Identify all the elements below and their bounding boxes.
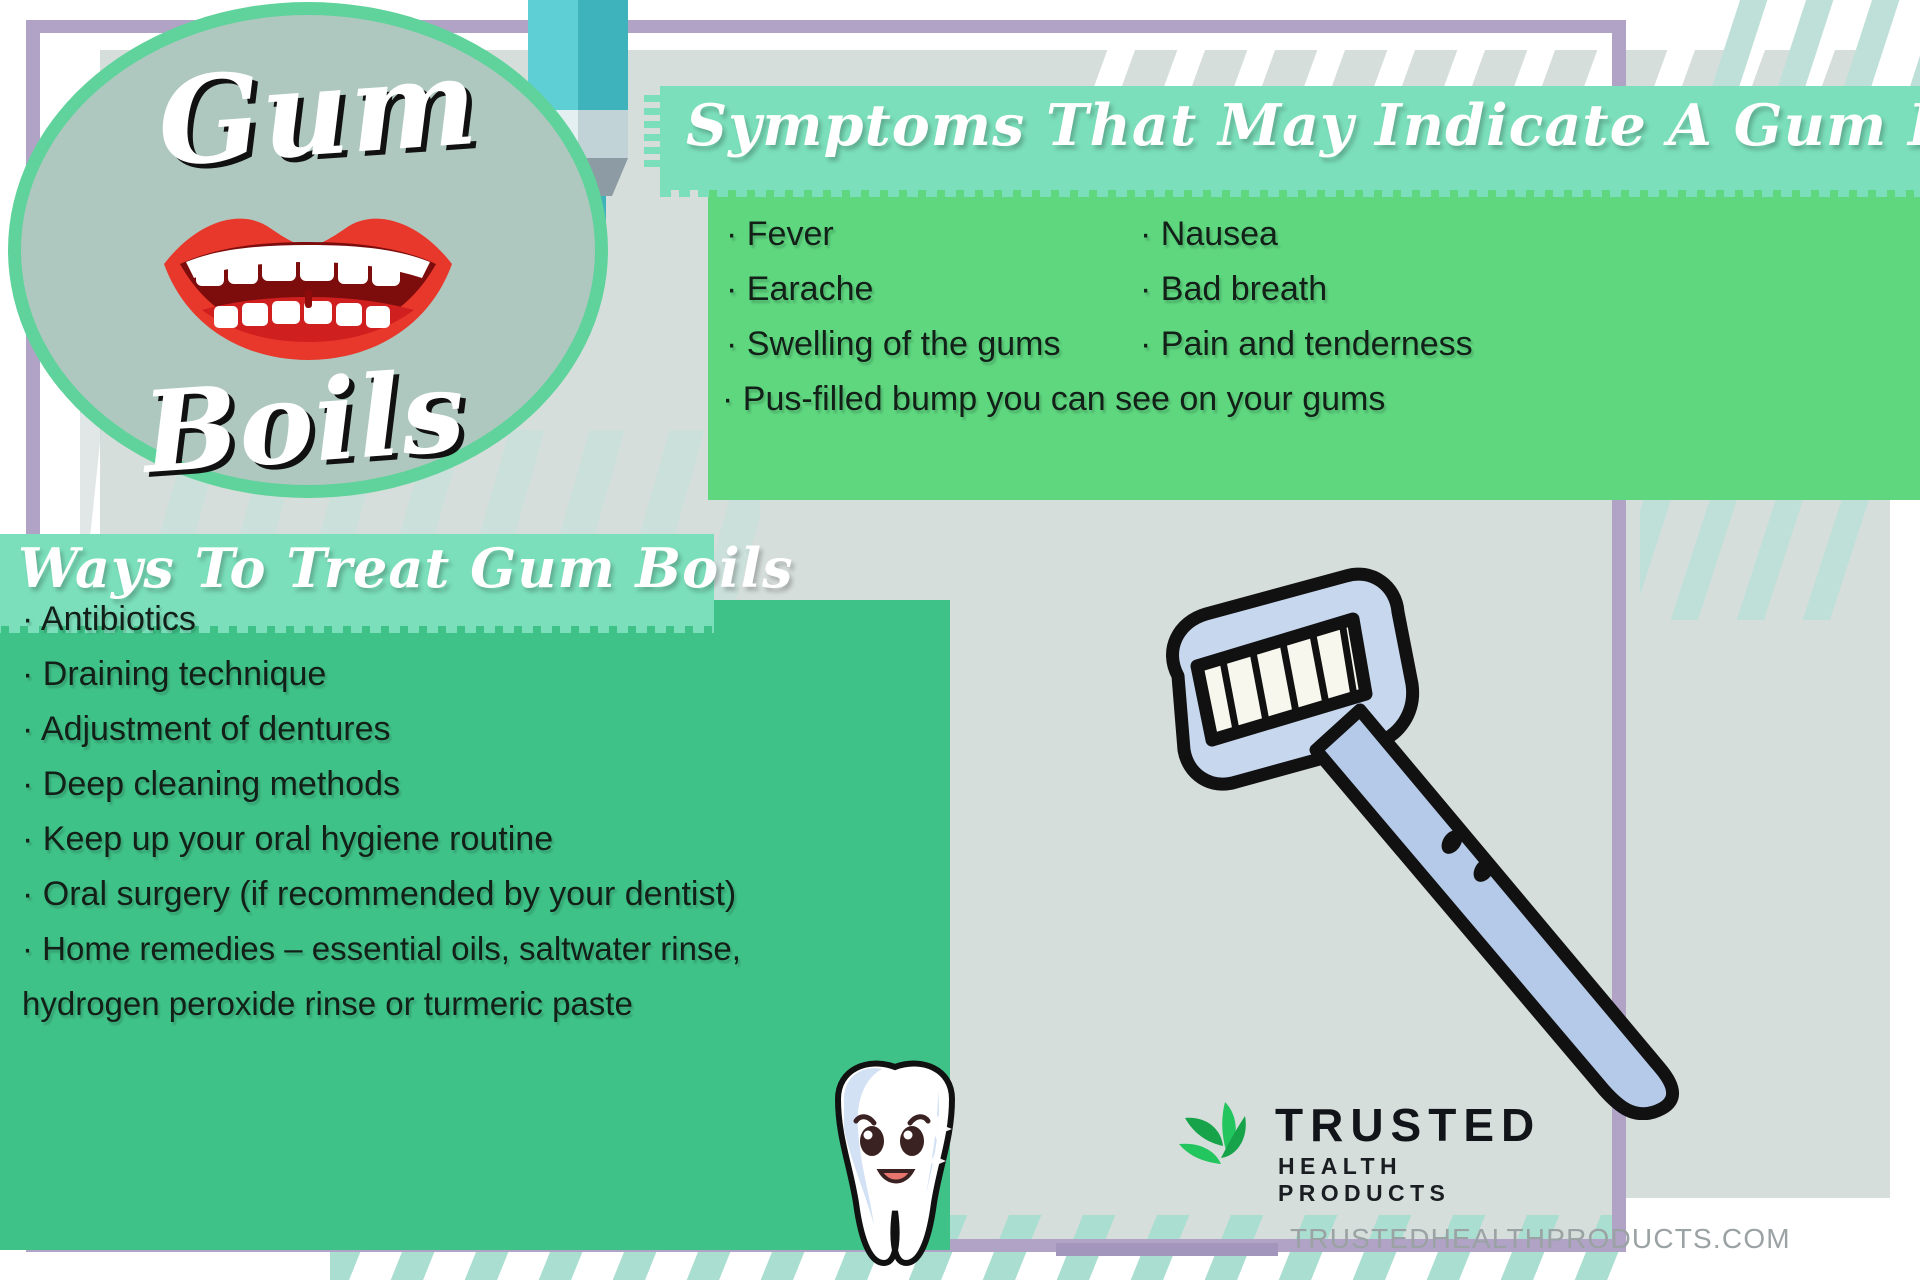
treatment-item: · Oral surgery (if recommended by your d… bbox=[22, 875, 736, 914]
symptom-item: · Fever bbox=[726, 215, 834, 254]
logo-title-boils: Boils bbox=[139, 346, 470, 499]
treatments-title: Ways To Treat Gum Boils bbox=[18, 536, 794, 600]
symptom-item: · Bad breath bbox=[1140, 270, 1327, 309]
treatment-item: · Keep up your oral hygiene routine bbox=[22, 820, 553, 859]
lips-icon bbox=[158, 202, 458, 362]
footer-rule bbox=[1056, 1243, 1278, 1256]
treatment-item: · Deep cleaning methods bbox=[22, 765, 400, 804]
logo-title-gum: Gum bbox=[153, 31, 482, 194]
symptom-item: · Pain and tenderness bbox=[1140, 325, 1473, 364]
treatment-item: · Home remedies – essential oils, saltwa… bbox=[22, 930, 741, 968]
brand-subtitle: HEALTH PRODUCTS bbox=[1278, 1153, 1575, 1207]
brand-logo: TRUSTED HEALTH PRODUCTS bbox=[1175, 1098, 1575, 1194]
logo-circle: Gum Boils bbox=[8, 2, 628, 514]
treatment-item: · Antibiotics bbox=[22, 600, 196, 639]
treatment-item: · Adjustment of dentures bbox=[22, 710, 391, 749]
brand-name: TRUSTED bbox=[1275, 1098, 1541, 1152]
symptom-item: · Nausea bbox=[1140, 215, 1278, 254]
toothbrush-icon bbox=[1060, 560, 1740, 1120]
symptom-item: · Swelling of the gums bbox=[726, 325, 1061, 364]
footer-url: TRUSTEDHEALTHPRODUCTS.COM bbox=[1290, 1223, 1791, 1255]
symptoms-title: Symptoms That May Indicate A Gum Boil bbox=[686, 92, 1920, 159]
symptom-item: · Earache bbox=[726, 270, 873, 309]
tooth-mascot-icon bbox=[810, 1055, 980, 1270]
treatment-item-wrap: hydrogen peroxide rinse or turmeric past… bbox=[22, 985, 633, 1023]
symptom-item: · Pus-filled bump you can see on your gu… bbox=[722, 380, 1385, 419]
treatments-panel bbox=[0, 600, 950, 1250]
leaf-icon bbox=[1175, 1100, 1261, 1180]
infographic-canvas: Gum Boils bbox=[0, 0, 1920, 1280]
treatment-item: · Draining technique bbox=[22, 655, 326, 694]
